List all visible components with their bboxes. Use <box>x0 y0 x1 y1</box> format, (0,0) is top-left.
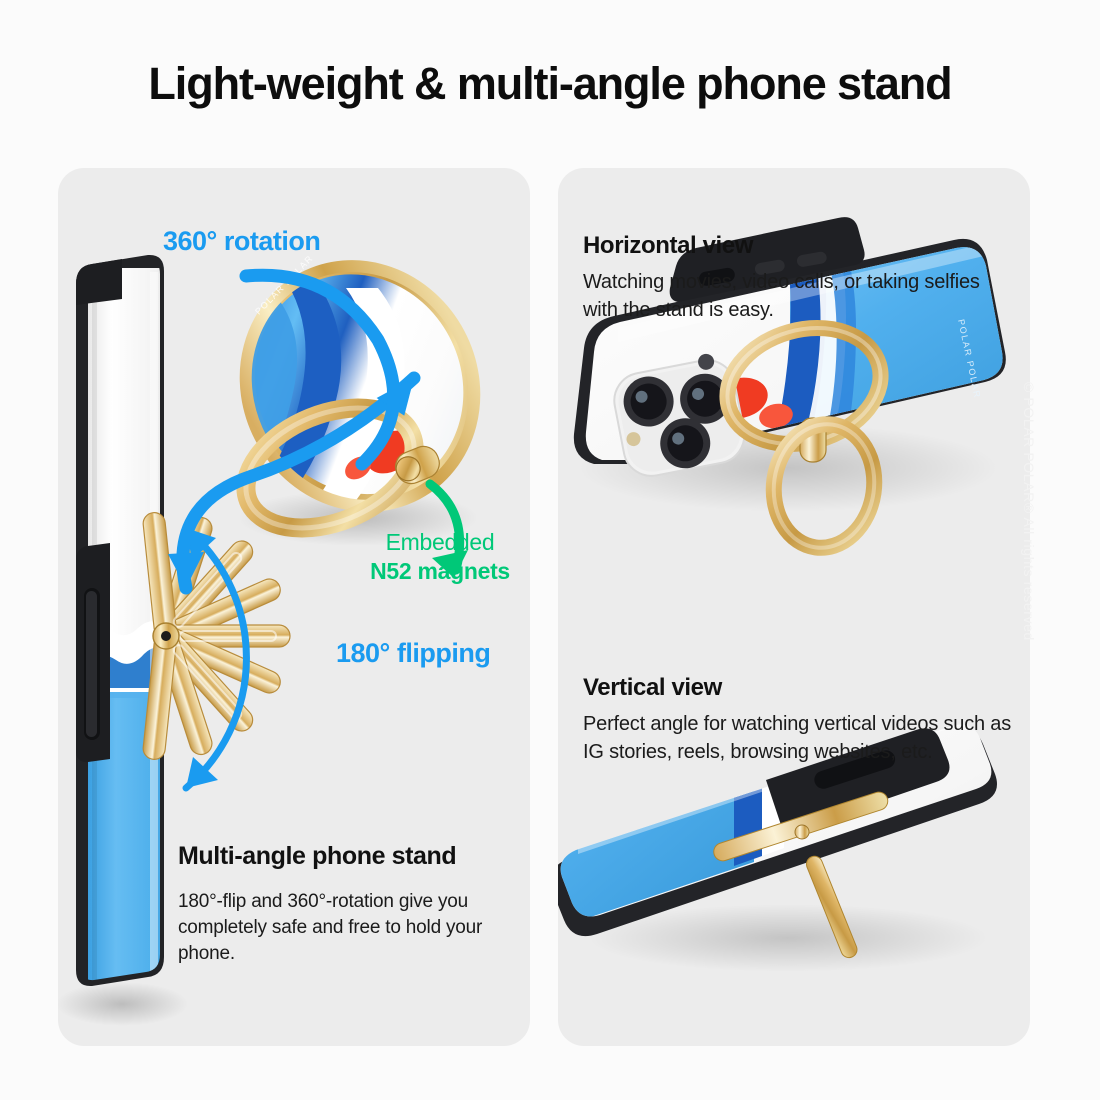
magnets-label-line1: Embedded <box>352 528 528 557</box>
magnets-label-line2: N52 magnets <box>352 557 528 586</box>
stand-caption-block: Multi-angle phone stand 180°-flip and 36… <box>178 842 528 968</box>
rotation-label: 360° rotation <box>163 226 320 257</box>
vertical-view-block: Vertical view Perfect angle for watching… <box>583 674 1031 766</box>
vertical-view-body: Perfect angle for watching vertical vide… <box>583 711 1031 766</box>
page-title: Light-weight & multi-angle phone stand <box>0 58 1100 110</box>
ring-holder-assembly: POLAR POLAR <box>186 226 516 551</box>
magnets-label: Embedded N52 magnets <box>352 528 528 586</box>
copyright-watermark: © POLAR POLAR® All rights reserved <box>1021 382 1037 641</box>
horizontal-view-body: Watching movies, video calls, or taking … <box>583 269 1013 324</box>
horizontal-view-heading: Horizontal view <box>583 232 1013 260</box>
stand-caption-heading: Multi-angle phone stand <box>178 842 528 871</box>
flipping-label: 180° flipping <box>336 638 490 669</box>
horizontal-view-block: Horizontal view Watching movies, video c… <box>583 232 1013 324</box>
product-infographic: Light-weight & multi-angle phone stand <box>0 0 1100 1100</box>
ring-flip-fan <box>142 512 290 761</box>
vertical-view-heading: Vertical view <box>583 674 1031 702</box>
stand-caption-body: 180°-flip and 360°-rotation give you com… <box>178 889 528 968</box>
